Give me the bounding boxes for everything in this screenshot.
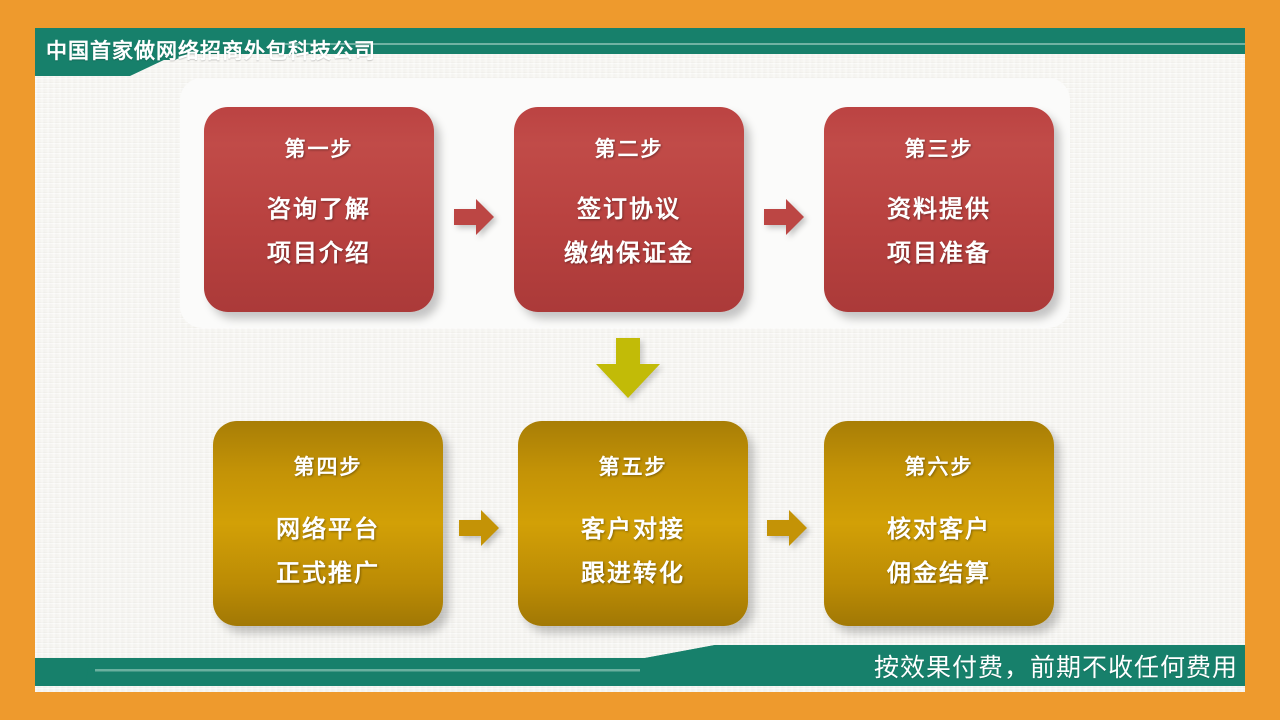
card-title: 第六步 (905, 451, 974, 481)
slide: 中国首家做网络招商外包科技公司 按效果付费，前期不收任何费用 第一步 咨询了解 … (0, 0, 1280, 720)
arrow-right-icon (452, 196, 496, 238)
card-body: 咨询了解 项目介绍 (267, 187, 371, 275)
page-title: 中国首家做网络招商外包科技公司 (46, 36, 376, 66)
card-body: 资料提供 项目准备 (887, 187, 991, 275)
footer-tagline: 按效果付费，前期不收任何费用 (874, 648, 1238, 688)
card-title: 第四步 (294, 451, 363, 481)
process-card-step-3[interactable]: 第三步 资料提供 项目准备 (824, 107, 1054, 312)
card-line: 正式推广 (276, 551, 380, 595)
card-body: 核对客户 佣金结算 (887, 507, 991, 595)
card-line: 网络平台 (276, 507, 380, 551)
card-line: 项目准备 (887, 231, 991, 275)
process-card-step-5[interactable]: 第五步 客户对接 跟进转化 (518, 421, 748, 626)
arrow-right-icon (762, 196, 806, 238)
process-card-step-2[interactable]: 第二步 签订协议 缴纳保证金 (514, 107, 744, 312)
process-card-step-6[interactable]: 第六步 核对客户 佣金结算 (824, 421, 1054, 626)
arrow-down-icon (592, 338, 664, 400)
arrow-right-icon (457, 507, 501, 549)
card-body: 网络平台 正式推广 (276, 507, 380, 595)
card-title: 第一步 (285, 133, 354, 163)
arrow-right-icon (765, 507, 809, 549)
card-title: 第三步 (905, 133, 974, 163)
card-line: 缴纳保证金 (564, 231, 694, 275)
card-body: 签订协议 缴纳保证金 (564, 187, 694, 275)
card-line: 资料提供 (887, 187, 991, 231)
card-line: 佣金结算 (887, 551, 991, 595)
card-line: 跟进转化 (581, 551, 685, 595)
card-title: 第五步 (599, 451, 668, 481)
card-line: 咨询了解 (267, 187, 371, 231)
card-body: 客户对接 跟进转化 (581, 507, 685, 595)
process-card-step-1[interactable]: 第一步 咨询了解 项目介绍 (204, 107, 434, 312)
process-card-step-4[interactable]: 第四步 网络平台 正式推广 (213, 421, 443, 626)
card-line: 签订协议 (564, 187, 694, 231)
card-line: 项目介绍 (267, 231, 371, 275)
card-line: 客户对接 (581, 507, 685, 551)
card-title: 第二步 (595, 133, 664, 163)
card-line: 核对客户 (887, 507, 991, 551)
